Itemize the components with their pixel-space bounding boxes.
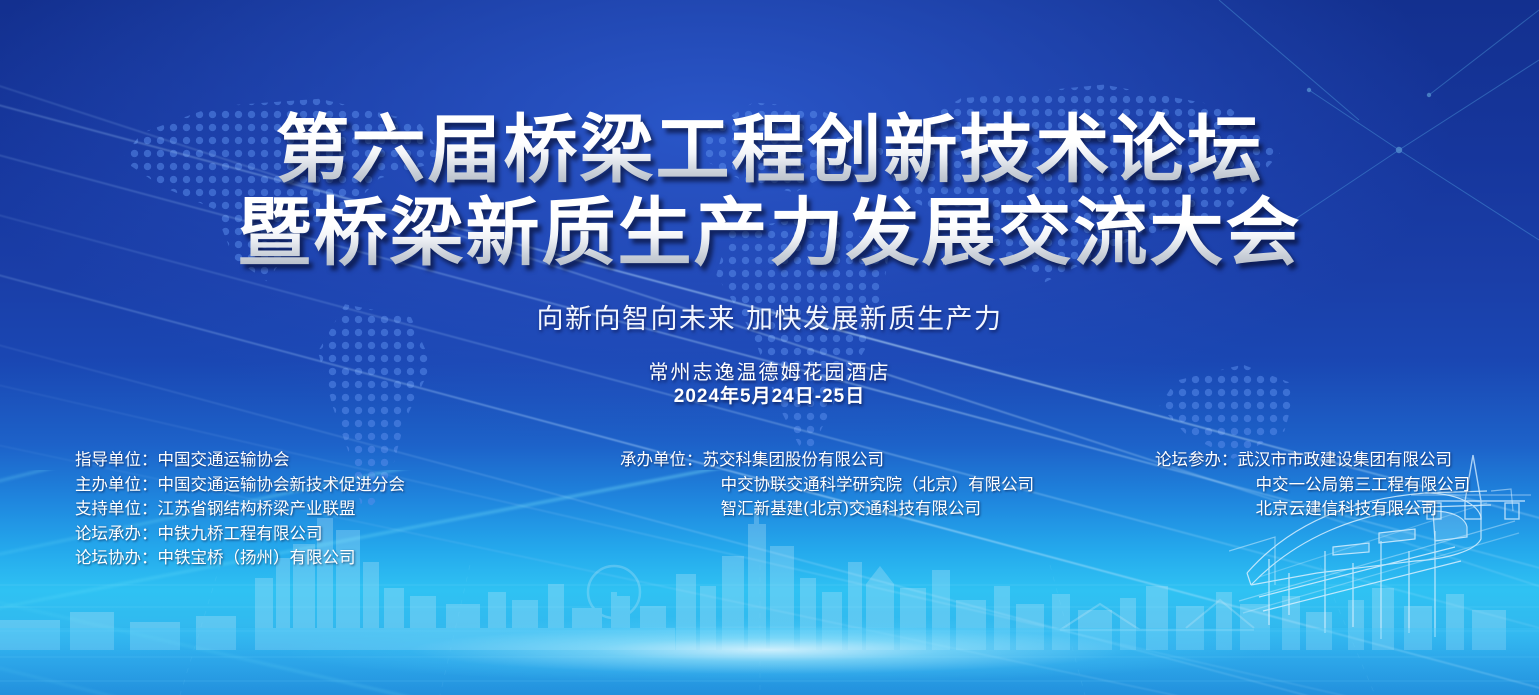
organizer-row: 论坛承办：中铁九桥工程有限公司 [75,522,405,547]
organizers-left-column: 指导单位：中国交通运输协会 主办单位：中国交通运输协会新技术促进分会 支持单位：… [75,448,405,571]
organizer-row: 论坛协办：中铁宝桥（扬州）有限公司 [75,546,405,571]
organizer-label: 承办单位： [620,450,703,469]
organizers-center-column: 承办单位：苏交科集团股份有限公司 中交协联交通科学研究院（北京）有限公司 智汇新… [620,448,1034,522]
organizers-right-column: 论坛参办：武汉市市政建设集团有限公司 中交一公局第三工程有限公司 北京云建信科技… [1155,448,1470,522]
organizer-row: 北京云建信科技有限公司 [1155,497,1470,522]
organizer-value: 中铁宝桥（扬州）有限公司 [158,548,356,567]
organizer-label: 支持单位： [75,499,158,518]
organizer-row: 承办单位：苏交科集团股份有限公司 [620,448,1034,473]
organizer-row: 论坛参办：武汉市市政建设集团有限公司 [1155,448,1470,473]
water-reflection-glow [0,628,1539,695]
organizer-row: 智汇新基建(北京)交通科技有限公司 [620,497,1034,522]
organizer-value: 江苏省钢结构桥梁产业联盟 [158,499,356,518]
organizer-value: 中国交通运输协会 [158,450,290,469]
title-line-2: 暨桥梁新质生产力发展交流大会 [0,193,1539,273]
event-dates: 2024年5月24日-25日 [0,381,1539,408]
organizer-value: 智汇新基建(北京)交通科技有限公司 [721,499,981,518]
banner-title-block: 第六届桥梁工程创新技术论坛 暨桥梁新质生产力发展交流大会 [0,110,1539,273]
organizer-value: 中交协联交通科学研究院（北京）有限公司 [721,475,1035,494]
organizer-row: 中交协联交通科学研究院（北京）有限公司 [620,473,1034,498]
organizer-row: 指导单位：中国交通运输协会 [75,448,405,473]
organizer-row: 中交一公局第三工程有限公司 [1155,473,1470,498]
organizer-value: 北京云建信科技有限公司 [1256,499,1438,518]
organizer-label: 论坛参办： [1155,450,1238,469]
organizer-row: 支持单位：江苏省钢结构桥梁产业联盟 [75,497,405,522]
organizer-label: 指导单位： [75,450,158,469]
organizer-label: 论坛承办： [75,524,158,543]
organizer-row: 主办单位：中国交通运输协会新技术促进分会 [75,473,405,498]
organizer-value: 中国交通运输协会新技术促进分会 [158,475,406,494]
title-line-1: 第六届桥梁工程创新技术论坛 [0,110,1539,190]
conference-banner: 第六届桥梁工程创新技术论坛 暨桥梁新质生产力发展交流大会 向新向智向未来 加快发… [0,0,1539,695]
organizer-label: 主办单位： [75,475,158,494]
organizer-value: 武汉市市政建设集团有限公司 [1238,450,1453,469]
organizer-label: 论坛协办： [75,548,158,567]
horizon-glow [0,612,1539,695]
organizer-value: 苏交科集团股份有限公司 [703,450,885,469]
banner-subtitle: 向新向智向未来 加快发展新质生产力 [0,297,1539,336]
organizer-value: 中交一公局第三工程有限公司 [1256,475,1471,494]
organizer-value: 中铁九桥工程有限公司 [158,524,323,543]
